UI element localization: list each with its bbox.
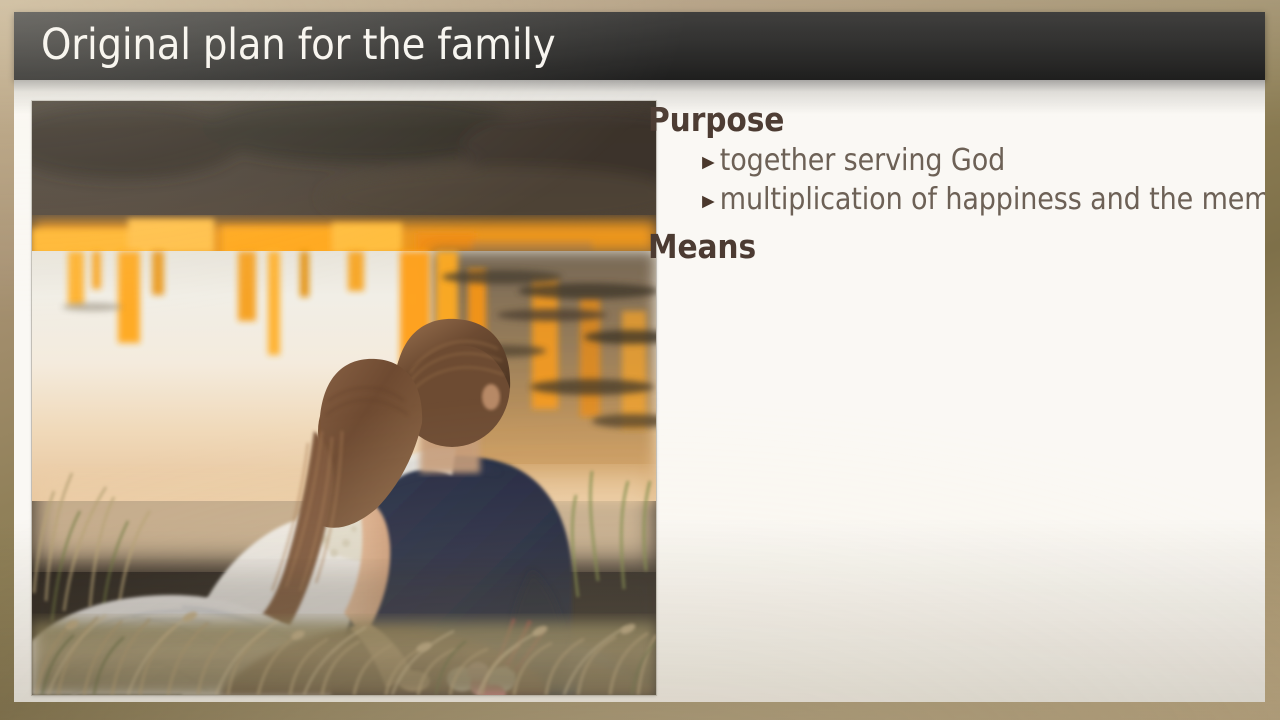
triangle-bullet-icon: ► — [698, 152, 719, 173]
slide-content-panel: Purpose ► together serving God ► multipl… — [14, 80, 1265, 702]
list-item-label: multiplication of happiness and the memb… — [720, 182, 1265, 217]
list-item: ► multiplication of happiness and the me… — [698, 182, 1248, 217]
heading-purpose: Purpose — [648, 102, 1248, 139]
heading-means: Means — [648, 229, 1248, 266]
wedding-couple-photo — [32, 101, 656, 695]
list-item-label: together serving God — [720, 143, 1005, 178]
slide-frame: Original plan for the family — [0, 0, 1280, 720]
wedding-couple-photo-image — [32, 101, 656, 695]
page-title: Original plan for the family — [41, 20, 556, 70]
slide-title-bar: Original plan for the family — [14, 12, 1265, 80]
triangle-bullet-icon: ► — [698, 191, 719, 212]
slide-body-text: Purpose ► together serving God ► multipl… — [648, 102, 1248, 266]
list-item: ► together serving God — [698, 143, 1248, 178]
